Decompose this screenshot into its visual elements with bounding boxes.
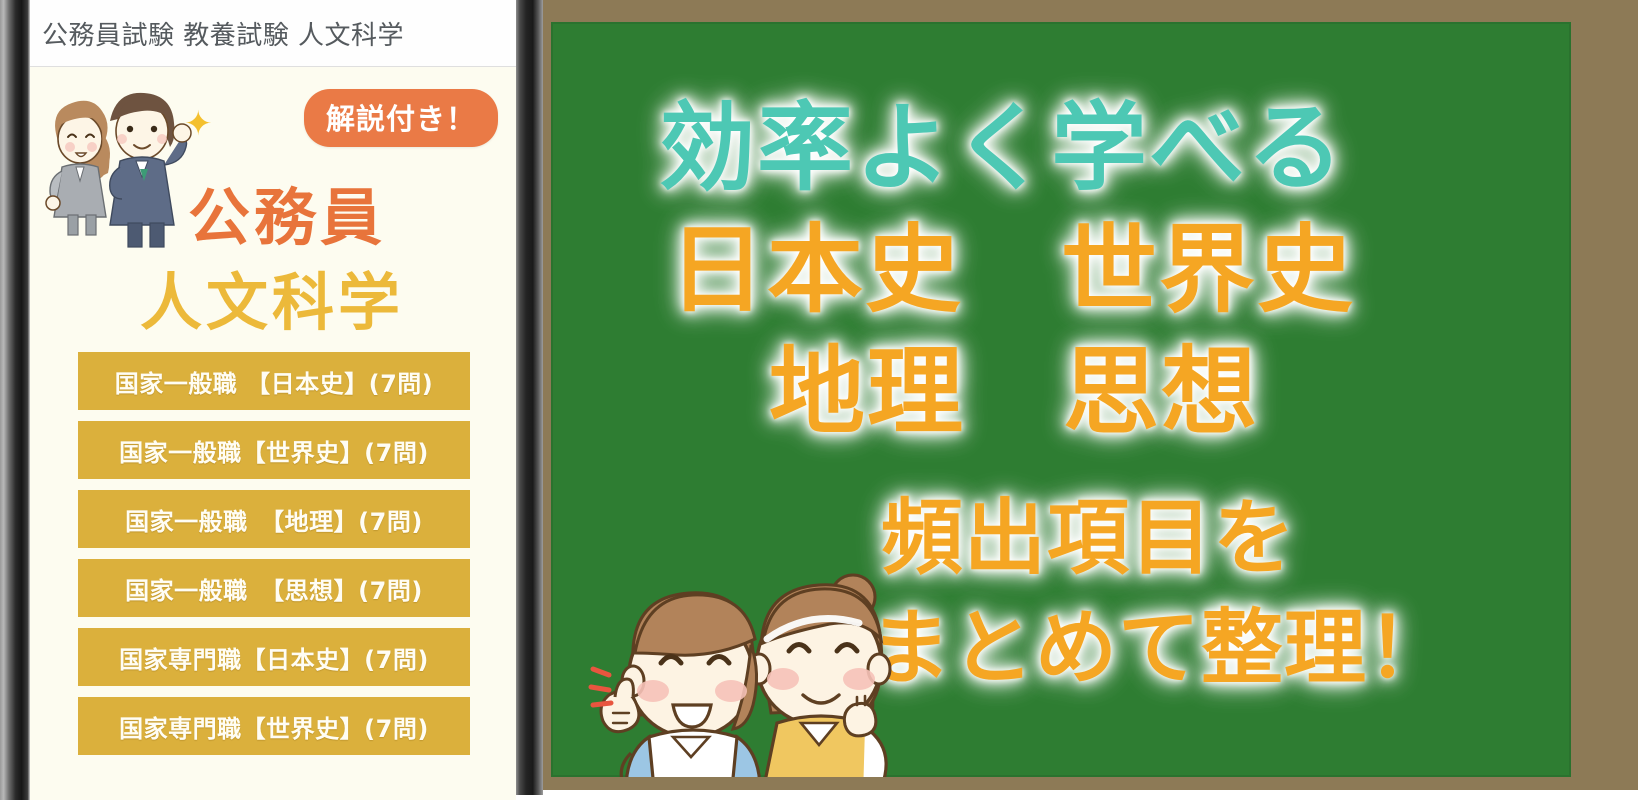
blackboard-line-4: 頻出項目を	[881, 498, 1296, 580]
list-item[interactable]: 国家一般職 【思想】(7問)	[78, 559, 470, 617]
app-header: 公務員試験 教養試験 人文科学	[30, 0, 516, 67]
blackboard-frame: 効率よく学べる 日本史 世界史 地理 思想 頻出項目を まとめて整理！	[543, 0, 1638, 790]
blackboard-line-2: 日本史 世界史	[669, 222, 1355, 318]
quiz-list: 国家一般職 【日本史】(7問) 国家一般職【世界史】(7問) 国家一般職 【地理…	[78, 352, 470, 766]
title-secondary: 人文科学	[140, 252, 404, 342]
phone-left-panel: 公務員試験 教養試験 人文科学	[0, 0, 516, 800]
status-badge: 解説付き！	[304, 89, 498, 147]
list-item[interactable]: 国家一般職 【日本史】(7問)	[78, 352, 470, 410]
page-content: ✦ 解説付き！ 公務員 人文科学 国家一般職 【日本史】(7問) 国家一般職【世…	[30, 67, 516, 800]
phone-bezel-right	[516, 0, 543, 795]
list-item[interactable]: 国家一般職 【地理】(7問)	[78, 490, 470, 548]
blackboard-line-3: 地理 思想	[769, 344, 1259, 440]
phone-bezel-left	[0, 0, 30, 800]
blackboard-line-5: まとめて整理！	[869, 608, 1450, 690]
list-item[interactable]: 国家専門職【日本史】(7問)	[78, 628, 470, 686]
blackboard-ledge	[551, 777, 1571, 790]
list-item[interactable]: 国家専門職【世界史】(7問)	[78, 697, 470, 755]
sparkle-icon: ✦	[184, 107, 213, 141]
screenshot-root: 公務員試験 教養試験 人文科学	[0, 0, 1638, 800]
page-title: 公務員試験 教養試験 人文科学	[42, 15, 404, 52]
two-students-illustration	[591, 547, 921, 777]
business-people-illustration: ✦	[32, 75, 202, 255]
blackboard-line-1: 効率よく学べる	[659, 100, 1345, 196]
title-primary: 公務員	[188, 167, 386, 257]
blackboard-right-panel: 効率よく学べる 日本史 世界史 地理 思想 頻出項目を まとめて整理！	[516, 0, 1638, 800]
list-item[interactable]: 国家一般職【世界史】(7問)	[78, 421, 470, 479]
blackboard-surface: 効率よく学べる 日本史 世界史 地理 思想 頻出項目を まとめて整理！	[551, 22, 1571, 777]
